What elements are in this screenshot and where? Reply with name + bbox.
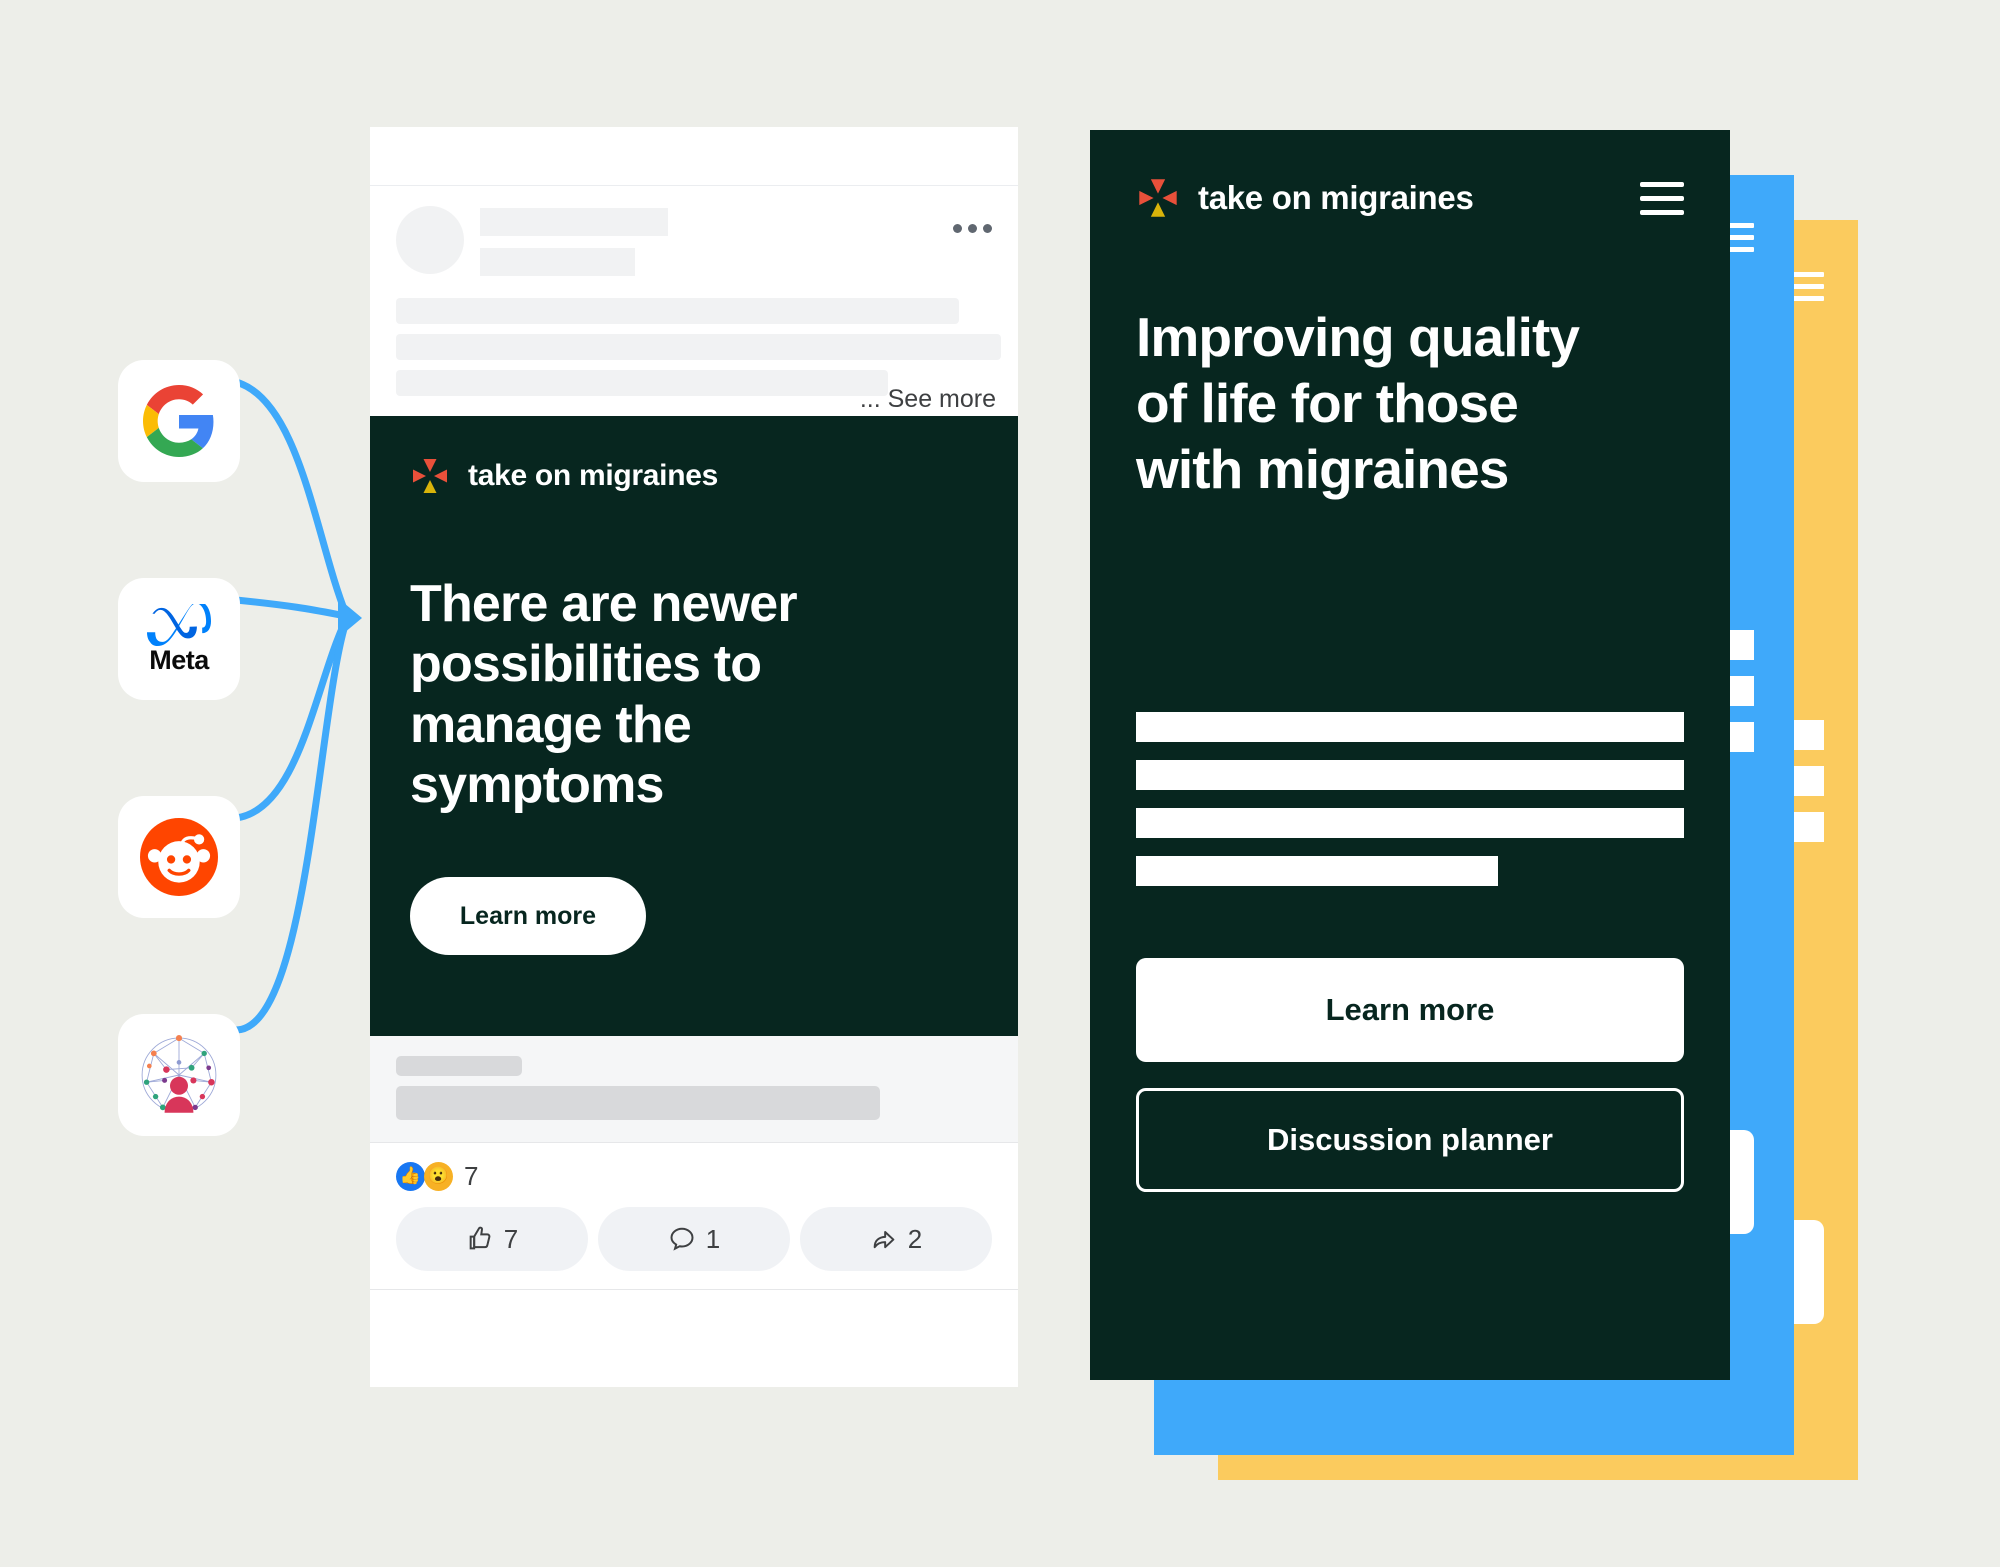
hamburger-menu-icon[interactable] <box>1640 182 1684 215</box>
patient-network-icon <box>134 1030 224 1120</box>
lp-brand-name: take on migraines <box>1198 179 1474 217</box>
wow-reaction-icon: 😮 <box>424 1162 453 1191</box>
post-text-line <box>396 298 959 324</box>
ad-brand-name: take on migraines <box>468 459 718 493</box>
meta-wordmark: Meta <box>149 647 209 674</box>
facebook-post-card: ... See more take on migraines There are… <box>370 127 1018 1387</box>
channel-tile-reddit[interactable] <box>118 796 240 918</box>
body-text-bar <box>1136 760 1684 790</box>
post-text-line <box>396 334 1001 360</box>
canvas: Meta <box>0 0 2000 1567</box>
thumbs-up-icon <box>466 1225 494 1253</box>
meta-icon <box>146 604 212 646</box>
comment-count: 1 <box>706 1224 720 1255</box>
post-top-strip <box>370 127 1018 186</box>
channel-tile-meta[interactable]: Meta <box>118 578 240 700</box>
landing-page-header: take on migraines <box>1136 176 1684 220</box>
take-on-migraines-logo-icon <box>1136 176 1180 220</box>
ad-learn-more-button[interactable]: Learn more <box>410 877 646 955</box>
ad-headline: There are newer possibilities to manage … <box>410 574 950 815</box>
take-on-migraines-logo-icon <box>410 456 450 496</box>
like-button[interactable]: 7 <box>396 1207 588 1271</box>
body-text-bar <box>1136 808 1684 838</box>
author-name-placeholder <box>480 208 668 236</box>
landing-page: take on migraines Improving quality of l… <box>1090 130 1730 1380</box>
more-options-icon[interactable] <box>953 224 992 233</box>
post-header <box>370 186 1018 282</box>
see-more-link[interactable]: ... See more <box>860 387 996 412</box>
avatar <box>396 206 464 274</box>
landing-page-cta-group: Learn more Discussion planner <box>1136 958 1684 1192</box>
post-meta-placeholder <box>480 248 635 276</box>
landing-page-headline: Improving quality of life for those with… <box>1136 304 1636 502</box>
ad-brand-row: take on migraines <box>410 456 978 496</box>
landing-page-body-placeholder <box>1136 712 1684 886</box>
share-arrow-icon <box>870 1225 898 1253</box>
caption-title-placeholder <box>396 1086 880 1120</box>
reddit-icon <box>140 818 218 896</box>
share-button[interactable]: 2 <box>800 1207 992 1271</box>
ad-link-caption <box>370 1036 1018 1143</box>
like-count: 7 <box>504 1224 518 1255</box>
comment-button[interactable]: 1 <box>598 1207 790 1271</box>
lp-learn-more-button[interactable]: Learn more <box>1136 958 1684 1062</box>
post-text-line <box>396 370 888 396</box>
post-action-bar: 7 1 2 <box>370 1193 1018 1289</box>
hamburger-menu-icon <box>1790 272 1824 308</box>
share-count: 2 <box>908 1224 922 1255</box>
lp-discussion-planner-button[interactable]: Discussion planner <box>1136 1088 1684 1192</box>
google-icon <box>143 385 215 457</box>
channel-tile-patient-network[interactable] <box>118 1014 240 1136</box>
comment-bubble-icon <box>668 1225 696 1253</box>
ad-creative: take on migraines There are newer possib… <box>370 416 1018 1036</box>
reaction-total-count: 7 <box>464 1161 478 1192</box>
like-reaction-icon: 👍 <box>396 1162 425 1191</box>
caption-domain-placeholder <box>396 1056 522 1076</box>
body-text-bar <box>1136 712 1684 742</box>
reaction-summary[interactable]: 👍 😮 7 <box>370 1143 1018 1193</box>
lp-brand-row: take on migraines <box>1136 176 1474 220</box>
post-text-placeholder: ... See more <box>370 282 1018 416</box>
post-footer-divider <box>370 1289 1018 1290</box>
channel-tile-google[interactable] <box>118 360 240 482</box>
body-text-bar <box>1136 856 1498 886</box>
